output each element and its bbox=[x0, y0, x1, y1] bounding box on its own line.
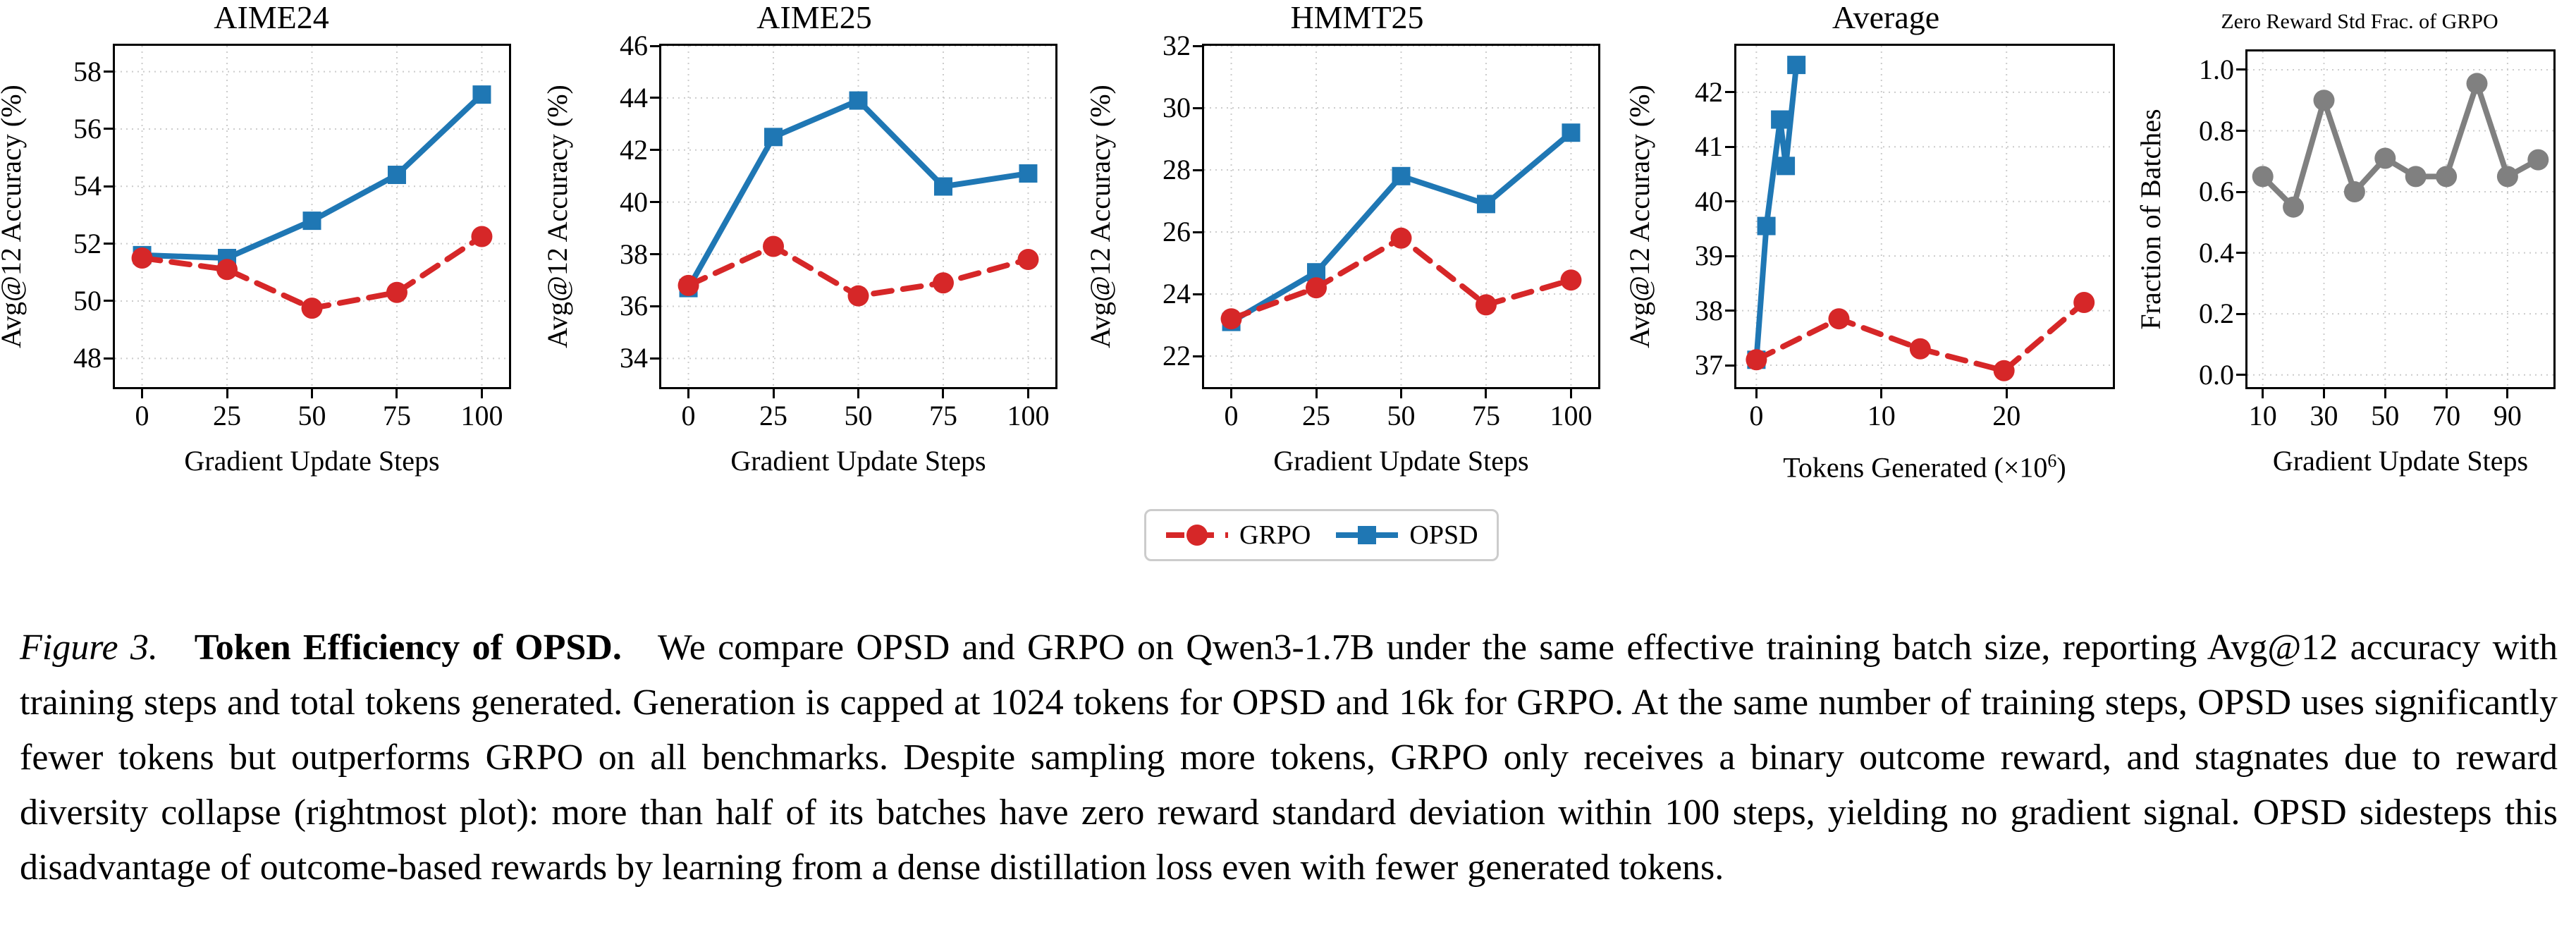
y-tick-mark bbox=[2236, 130, 2245, 132]
legend-label-opsd: OPSD bbox=[1409, 522, 1478, 549]
y-tick-label: 0.6 bbox=[2173, 178, 2234, 206]
y-tick-mark bbox=[1193, 45, 1202, 47]
y-tick-mark bbox=[2236, 191, 2245, 193]
data-point-grpo bbox=[1994, 360, 2015, 381]
subplot-average: Average37383940414201020Tokens Generated… bbox=[1629, 0, 2143, 494]
y-tick-label: 46 bbox=[580, 32, 648, 60]
y-tick-label: 54 bbox=[34, 172, 102, 200]
y-tick-label: 41 bbox=[1662, 133, 1723, 161]
plot-canvas-average bbox=[1736, 46, 2113, 387]
plot-canvas-aime24 bbox=[115, 46, 509, 387]
y-tick-mark bbox=[650, 305, 659, 307]
data-point-opsd bbox=[1562, 123, 1580, 142]
y-tick-label: 0.8 bbox=[2173, 117, 2234, 145]
x-tick-label: 25 bbox=[724, 402, 823, 430]
data-point-opsd bbox=[1771, 111, 1789, 129]
plot-area-aime25 bbox=[659, 44, 1057, 389]
data-point-grpo bbox=[1910, 338, 1931, 360]
data-point-grpo bbox=[471, 226, 492, 247]
x-tick-mark bbox=[2446, 389, 2448, 398]
figure-root: AIME244850525456580255075100Gradient Upd… bbox=[0, 0, 2576, 925]
data-point-zero-reward-std-frac- bbox=[2436, 166, 2457, 187]
x-tick-mark bbox=[1400, 389, 1402, 398]
x-tick-mark bbox=[1755, 389, 1758, 398]
y-tick-mark bbox=[2236, 68, 2245, 71]
x-tick-mark bbox=[1570, 389, 1572, 398]
y-tick-label: 32 bbox=[1123, 32, 1191, 60]
data-point-grpo bbox=[1017, 249, 1038, 270]
y-tick-label: 58 bbox=[34, 58, 102, 86]
x-axis-label-hmmt25: Gradient Update Steps bbox=[1202, 447, 1600, 475]
y-tick-label: 52 bbox=[34, 230, 102, 258]
x-tick-mark bbox=[942, 389, 944, 398]
y-tick-mark bbox=[650, 149, 659, 151]
data-point-zero-reward-std-frac- bbox=[2467, 73, 2488, 94]
data-point-grpo bbox=[1306, 277, 1327, 298]
x-tick-label: 100 bbox=[979, 402, 1077, 430]
subplot-title-zero-reward-std: Zero Reward Std Frac. of GRPO bbox=[2143, 6, 2576, 38]
y-axis-label-hmmt25: Avg@12 Accuracy (%) bbox=[1086, 44, 1115, 389]
x-axis-label-average: Tokens Generated (×106) bbox=[1734, 447, 2115, 482]
caption-title: Token Efficiency of OPSD. bbox=[195, 627, 622, 668]
plot-canvas-hmmt25 bbox=[1204, 46, 1598, 387]
y-tick-label: 42 bbox=[1662, 78, 1723, 106]
y-tick-mark bbox=[650, 97, 659, 99]
x-tick-mark bbox=[2506, 389, 2508, 398]
plot-area-aime24 bbox=[113, 44, 511, 389]
x-tick-mark bbox=[481, 389, 483, 398]
y-tick-label: 37 bbox=[1662, 351, 1723, 379]
subplot-title-aime24: AIME24 bbox=[0, 1, 543, 34]
y-tick-mark bbox=[104, 71, 113, 73]
data-point-grpo bbox=[1746, 349, 1767, 370]
data-point-opsd bbox=[934, 178, 952, 196]
x-tick-label: 0 bbox=[639, 402, 738, 430]
y-tick-label: 36 bbox=[580, 292, 648, 320]
y-tick-label: 22 bbox=[1123, 342, 1191, 370]
legend-item-opsd: OPSD bbox=[1335, 520, 1478, 551]
subplot-grid: AIME244850525456580255075100Gradient Upd… bbox=[0, 0, 2576, 494]
y-tick-mark bbox=[1725, 146, 1734, 148]
data-point-opsd bbox=[472, 85, 491, 104]
y-tick-mark bbox=[650, 253, 659, 255]
subplot-title-average: Average bbox=[1629, 1, 2143, 34]
y-tick-mark bbox=[104, 185, 113, 188]
legend-label-grpo: GRPO bbox=[1239, 522, 1311, 549]
data-point-zero-reward-std-frac- bbox=[2374, 147, 2396, 169]
data-point-opsd bbox=[1392, 167, 1411, 185]
y-tick-mark bbox=[1725, 255, 1734, 257]
y-tick-label: 1.0 bbox=[2173, 56, 2234, 84]
y-axis-label-aime24: Avg@12 Accuracy (%) bbox=[0, 44, 25, 389]
y-tick-label: 40 bbox=[580, 188, 648, 216]
data-point-opsd bbox=[850, 92, 868, 110]
y-tick-label: 24 bbox=[1123, 280, 1191, 308]
plot-area-average bbox=[1734, 44, 2115, 389]
data-point-opsd bbox=[1758, 217, 1776, 235]
data-point-opsd bbox=[1019, 164, 1037, 183]
y-tick-label: 39 bbox=[1662, 242, 1723, 270]
x-tick-label: 100 bbox=[432, 402, 531, 430]
caption-figure-number: Figure 3. bbox=[20, 627, 158, 668]
x-tick-label: 75 bbox=[1437, 402, 1535, 430]
series-line-grpo bbox=[1756, 302, 2084, 371]
data-point-zero-reward-std-frac- bbox=[2252, 166, 2274, 187]
x-tick-mark bbox=[773, 389, 775, 398]
data-point-grpo bbox=[763, 235, 784, 257]
x-tick-label: 0 bbox=[1707, 402, 1805, 430]
x-axis-label-aime25: Gradient Update Steps bbox=[659, 447, 1057, 475]
data-point-zero-reward-std-frac- bbox=[2497, 166, 2518, 187]
x-tick-label: 100 bbox=[1521, 402, 1620, 430]
x-axis-label-zero-reward-std: Gradient Update Steps bbox=[2245, 447, 2556, 475]
x-tick-mark bbox=[2006, 389, 2008, 398]
data-point-grpo bbox=[848, 286, 869, 307]
plot-area-hmmt25 bbox=[1202, 44, 1600, 389]
x-tick-label: 25 bbox=[1267, 402, 1366, 430]
x-tick-mark bbox=[2262, 389, 2264, 398]
x-tick-label: 10 bbox=[1832, 402, 1931, 430]
y-tick-mark bbox=[2236, 252, 2245, 254]
x-tick-mark bbox=[311, 389, 313, 398]
x-tick-mark bbox=[141, 389, 143, 398]
data-point-grpo bbox=[1221, 308, 1242, 329]
y-tick-label: 38 bbox=[1662, 297, 1723, 325]
data-point-grpo bbox=[1560, 269, 1581, 290]
plot-canvas-zero-reward-std bbox=[2247, 51, 2553, 387]
data-point-grpo bbox=[386, 282, 407, 303]
x-tick-label: 50 bbox=[809, 402, 908, 430]
y-tick-label: 50 bbox=[34, 287, 102, 315]
x-axis-label-aime24: Gradient Update Steps bbox=[113, 447, 511, 475]
x-tick-mark bbox=[2384, 389, 2386, 398]
y-tick-mark bbox=[1725, 91, 1734, 93]
data-point-opsd bbox=[1787, 56, 1805, 74]
y-tick-label: 0.2 bbox=[2173, 300, 2234, 328]
plot-area-zero-reward-std bbox=[2245, 49, 2556, 389]
subplot-hmmt25: HMMT252224262830320255075100Gradient Upd… bbox=[1086, 0, 1629, 494]
data-point-grpo bbox=[1828, 308, 1849, 329]
y-tick-mark bbox=[650, 45, 659, 47]
legend-swatch-grpo bbox=[1165, 520, 1229, 551]
y-tick-mark bbox=[650, 357, 659, 360]
y-tick-label: 0.4 bbox=[2173, 239, 2234, 267]
y-tick-label: 38 bbox=[580, 240, 648, 269]
data-point-opsd bbox=[388, 166, 406, 184]
x-tick-label: 50 bbox=[263, 402, 362, 430]
y-axis-label-zero-reward-std: Fraction of Batches bbox=[2137, 49, 2165, 389]
x-tick-mark bbox=[857, 389, 859, 398]
series-line-opsd bbox=[1756, 65, 1796, 360]
y-tick-mark bbox=[104, 357, 113, 360]
x-tick-mark bbox=[1230, 389, 1232, 398]
series-line-opsd bbox=[689, 101, 1029, 288]
data-point-grpo bbox=[1476, 294, 1497, 315]
data-point-opsd bbox=[1777, 157, 1795, 175]
x-tick-mark bbox=[1027, 389, 1029, 398]
y-tick-mark bbox=[104, 300, 113, 302]
legend-swatch-opsd bbox=[1335, 520, 1399, 551]
x-tick-mark bbox=[1485, 389, 1487, 398]
data-point-grpo bbox=[1391, 228, 1412, 249]
x-tick-label: 0 bbox=[93, 402, 192, 430]
data-point-grpo bbox=[933, 272, 954, 293]
y-tick-label: 40 bbox=[1662, 188, 1723, 216]
y-tick-mark bbox=[1193, 355, 1202, 357]
subplot-zero-reward-std: Zero Reward Std Frac. of GRPO0.00.20.40.… bbox=[2143, 0, 2576, 494]
data-point-zero-reward-std-frac- bbox=[2314, 90, 2335, 111]
data-point-zero-reward-std-frac- bbox=[2283, 197, 2304, 218]
x-tick-mark bbox=[226, 389, 228, 398]
data-point-zero-reward-std-frac- bbox=[2405, 166, 2427, 187]
x-tick-mark bbox=[687, 389, 689, 398]
x-tick-label: 20 bbox=[1957, 402, 2056, 430]
y-tick-mark bbox=[1193, 169, 1202, 171]
plot-canvas-aime25 bbox=[661, 46, 1055, 387]
y-tick-mark bbox=[104, 128, 113, 130]
y-tick-mark bbox=[2236, 374, 2245, 376]
y-axis-label-average: Avg@12 Accuracy (%) bbox=[1626, 44, 1654, 389]
y-tick-label: 28 bbox=[1123, 156, 1191, 184]
y-tick-mark bbox=[1725, 310, 1734, 312]
x-tick-mark bbox=[2323, 389, 2325, 398]
y-tick-label: 42 bbox=[580, 136, 648, 164]
y-tick-mark bbox=[104, 243, 113, 245]
legend-item-grpo: GRPO bbox=[1165, 520, 1311, 551]
figure-caption: Figure 3. Token Efficiency of OPSD. We c… bbox=[20, 620, 2558, 895]
data-point-zero-reward-std-frac- bbox=[2344, 181, 2365, 202]
x-tick-mark bbox=[1880, 389, 1882, 398]
x-tick-mark bbox=[1315, 389, 1318, 398]
x-tick-label: 75 bbox=[894, 402, 993, 430]
data-point-grpo bbox=[216, 259, 238, 280]
data-point-grpo bbox=[2073, 292, 2094, 313]
y-tick-label: 48 bbox=[34, 344, 102, 372]
y-tick-mark bbox=[1193, 107, 1202, 109]
data-point-opsd bbox=[1477, 195, 1495, 213]
x-tick-label: 90 bbox=[2458, 402, 2557, 430]
y-tick-mark bbox=[2236, 313, 2245, 315]
y-tick-label: 0.0 bbox=[2173, 361, 2234, 389]
y-tick-label: 44 bbox=[580, 84, 648, 112]
y-tick-mark bbox=[1725, 200, 1734, 202]
x-tick-label: 50 bbox=[1352, 402, 1451, 430]
data-point-opsd bbox=[303, 212, 321, 230]
x-tick-label: 75 bbox=[348, 402, 446, 430]
subplot-aime25: AIME25343638404244460255075100Gradient U… bbox=[543, 0, 1086, 494]
y-tick-label: 34 bbox=[580, 344, 648, 372]
x-tick-label: 25 bbox=[178, 402, 276, 430]
y-tick-mark bbox=[1725, 365, 1734, 367]
data-point-opsd bbox=[764, 128, 783, 146]
data-point-grpo bbox=[678, 275, 699, 296]
x-tick-label: 0 bbox=[1182, 402, 1281, 430]
y-tick-mark bbox=[650, 201, 659, 203]
y-tick-label: 30 bbox=[1123, 94, 1191, 122]
y-tick-mark bbox=[1193, 231, 1202, 233]
y-tick-mark bbox=[1193, 293, 1202, 295]
y-axis-label-aime25: Avg@12 Accuracy (%) bbox=[544, 44, 572, 389]
x-tick-mark bbox=[395, 389, 398, 398]
y-tick-label: 26 bbox=[1123, 218, 1191, 246]
series-line-zero-reward-std-frac- bbox=[2263, 83, 2539, 207]
y-tick-label: 56 bbox=[34, 115, 102, 143]
data-point-grpo bbox=[302, 298, 323, 319]
data-point-zero-reward-std-frac- bbox=[2527, 149, 2549, 171]
figure-legend: GRPOOPSD bbox=[1144, 509, 1499, 561]
data-point-grpo bbox=[132, 247, 153, 269]
subplot-aime24: AIME244850525456580255075100Gradient Upd… bbox=[0, 0, 543, 494]
